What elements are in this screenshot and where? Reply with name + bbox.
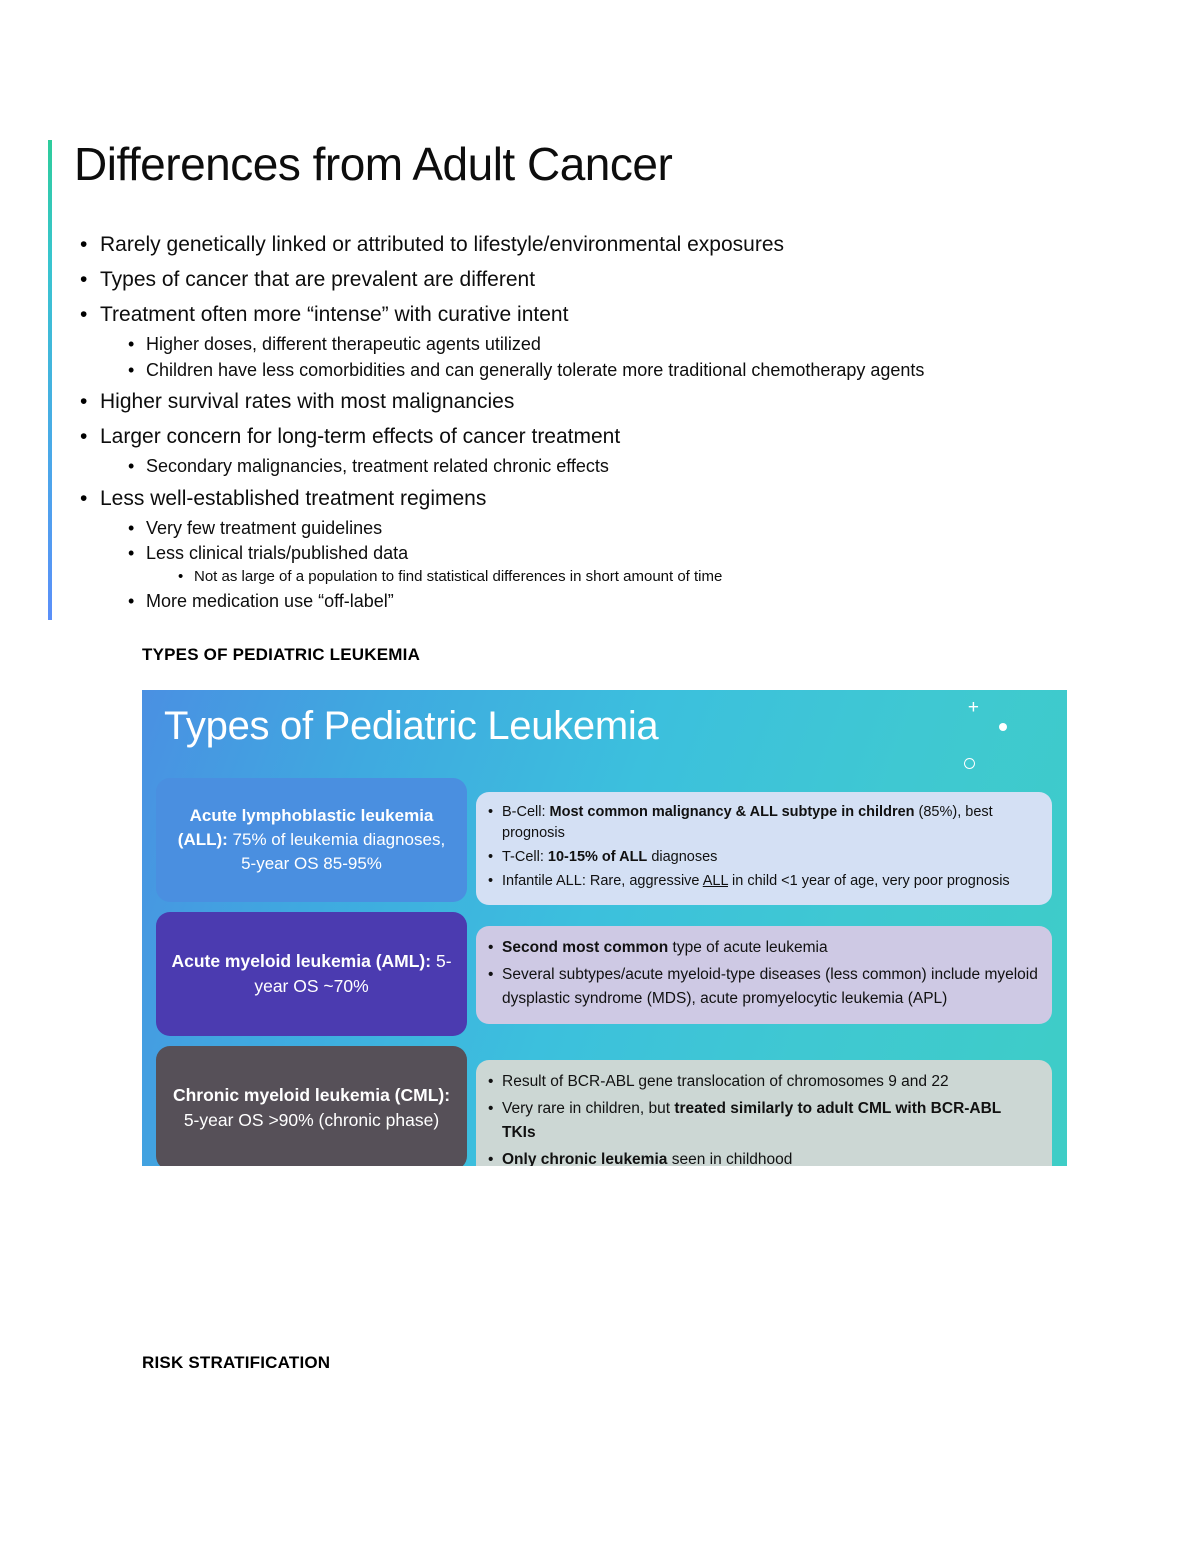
list-item: Children have less comorbidities and can… bbox=[122, 358, 1048, 383]
row-detail-list: Result of BCR-ABL gene translocation of … bbox=[486, 1070, 1038, 1166]
bullet-text: Very few treatment guidelines bbox=[146, 518, 382, 538]
section-caption-types-of-pediatric-leukemia: TYPES OF PEDIATRIC LEUKEMIA bbox=[142, 645, 420, 665]
row-label-rest: 5-year OS >90% (chronic phase) bbox=[184, 1110, 439, 1130]
list-item: T-Cell: 10-15% of ALL diagnoses bbox=[486, 847, 1038, 868]
infographic-row-aml: Acute myeloid leukemia (AML): 5-year OS … bbox=[142, 912, 1067, 1036]
list-item: Result of BCR-ABL gene translocation of … bbox=[486, 1070, 1038, 1093]
bullet-text: Larger concern for long-term effects of … bbox=[100, 422, 1048, 452]
list-item: B-Cell: Most common malignancy & ALL sub… bbox=[486, 802, 1038, 844]
list-item: Second most common type of acute leukemi… bbox=[486, 936, 1038, 959]
list-item: More medication use “off-label” bbox=[122, 589, 1048, 614]
sub-bullet-list: Very few treatment guidelines Less clini… bbox=[122, 516, 1048, 614]
list-item: Not as large of a population to find sta… bbox=[172, 567, 1048, 588]
list-item: Secondary malignancies, treatment relate… bbox=[122, 454, 1048, 479]
row-label-bold: Chronic myeloid leukemia (CML): bbox=[173, 1085, 450, 1105]
detail-tail: seen in childhood bbox=[667, 1151, 792, 1166]
circle-mark-icon bbox=[964, 758, 975, 769]
list-item: Larger concern for long-term effects of … bbox=[74, 422, 1048, 479]
row-label-bold: Acute myeloid leukemia (AML): bbox=[171, 951, 431, 971]
list-item: Several subtypes/acute myeloid-type dise… bbox=[486, 963, 1038, 1010]
row-label-rest: 75% of leukemia diagnoses, 5-year OS 85-… bbox=[228, 830, 445, 873]
detail-lead: Result of BCR-ABL gene translocation of … bbox=[502, 1073, 949, 1090]
row-detail-list: B-Cell: Most common malignancy & ALL sub… bbox=[486, 802, 1038, 895]
bullet-text: Rarely genetically linked or attributed … bbox=[100, 230, 1048, 260]
list-item: Rarely genetically linked or attributed … bbox=[74, 230, 1048, 260]
list-item: Very rare in children, but treated simil… bbox=[486, 1097, 1038, 1144]
detail-bold: Only chronic leukemia bbox=[502, 1151, 667, 1166]
list-item: Types of cancer that are prevalent are d… bbox=[74, 265, 1048, 295]
page-title: Differences from Adult Cancer bbox=[74, 140, 1048, 188]
pediatric-leukemia-infographic: Types of Pediatric Leukemia + Acute lymp… bbox=[142, 690, 1067, 1166]
detail-lead: Very rare in children, but bbox=[502, 1100, 674, 1117]
sub-bullet-list: Secondary malignancies, treatment relate… bbox=[122, 454, 1048, 479]
sub-bullet-list: Higher doses, different therapeutic agen… bbox=[122, 332, 1048, 383]
bullet-text: Treatment often more “intense” with cura… bbox=[100, 300, 1048, 330]
detail-tail: diagnoses bbox=[647, 849, 717, 865]
infographic-header: Types of Pediatric Leukemia + bbox=[142, 690, 1067, 778]
detail-tail: type of acute leukemia bbox=[668, 939, 827, 956]
bullet-text: Secondary malignancies, treatment relate… bbox=[146, 456, 609, 476]
infographic-row-cml: Chronic myeloid leukemia (CML): 5-year O… bbox=[142, 1046, 1067, 1166]
row-label-cml: Chronic myeloid leukemia (CML): 5-year O… bbox=[156, 1046, 467, 1166]
row-details-aml: Second most common type of acute leukemi… bbox=[476, 926, 1052, 1024]
row-detail-list: Second most common type of acute leukemi… bbox=[486, 936, 1038, 1014]
dot-mark-icon bbox=[999, 723, 1007, 731]
bullet-text: Children have less comorbidities and can… bbox=[146, 360, 924, 380]
list-item: Less clinical trials/published data Not … bbox=[122, 541, 1048, 588]
slide-content-block: Differences from Adult Cancer Rarely gen… bbox=[48, 140, 1048, 619]
detail-bold: 10-15% of ALL bbox=[548, 849, 647, 865]
detail-lead: Several subtypes/acute myeloid-type dise… bbox=[502, 966, 1038, 1006]
detail-tail: in child <1 year of age, very poor progn… bbox=[728, 873, 1010, 889]
infographic-row-all: Acute lymphoblastic leukemia (ALL): 75% … bbox=[142, 778, 1067, 902]
plus-mark-icon: + bbox=[968, 698, 979, 717]
main-bullet-list: Rarely genetically linked or attributed … bbox=[74, 230, 1048, 614]
detail-bold: Most common malignancy & ALL subtype in … bbox=[550, 804, 915, 820]
list-item: Very few treatment guidelines bbox=[122, 516, 1048, 541]
row-label-aml: Acute myeloid leukemia (AML): 5-year OS … bbox=[156, 912, 467, 1036]
detail-underline: ALL bbox=[703, 873, 728, 889]
detail-lead: Infantile ALL: Rare, aggressive bbox=[502, 873, 703, 889]
detail-lead: B-Cell: bbox=[502, 804, 550, 820]
list-item: Higher doses, different therapeutic agen… bbox=[122, 332, 1048, 357]
bullet-text: Higher doses, different therapeutic agen… bbox=[146, 334, 541, 354]
list-item: Less well-established treatment regimens… bbox=[74, 484, 1048, 614]
infographic-title: Types of Pediatric Leukemia bbox=[164, 704, 658, 749]
section-caption-risk-stratification: RISK STRATIFICATION bbox=[142, 1353, 330, 1373]
detail-lead: T-Cell: bbox=[502, 849, 548, 865]
list-item: Treatment often more “intense” with cura… bbox=[74, 300, 1048, 382]
bullet-text: Types of cancer that are prevalent are d… bbox=[100, 265, 1048, 295]
detail-bold: Second most common bbox=[502, 939, 668, 956]
row-details-all: B-Cell: Most common malignancy & ALL sub… bbox=[476, 792, 1052, 905]
sub-sub-bullet-list: Not as large of a population to find sta… bbox=[172, 567, 1048, 588]
bullet-text: Not as large of a population to find sta… bbox=[194, 568, 722, 585]
bullet-text: Higher survival rates with most malignan… bbox=[100, 387, 1048, 417]
row-label-all: Acute lymphoblastic leukemia (ALL): 75% … bbox=[156, 778, 467, 902]
list-item: Infantile ALL: Rare, aggressive ALL in c… bbox=[486, 871, 1038, 892]
list-item: Higher survival rates with most malignan… bbox=[74, 387, 1048, 417]
bullet-text: More medication use “off-label” bbox=[146, 591, 394, 611]
list-item: Only chronic leukemia seen in childhood bbox=[486, 1148, 1038, 1166]
bullet-text: Less clinical trials/published data bbox=[146, 543, 408, 563]
row-details-cml: Result of BCR-ABL gene translocation of … bbox=[476, 1060, 1052, 1166]
bullet-text: Less well-established treatment regimens bbox=[100, 484, 1048, 514]
